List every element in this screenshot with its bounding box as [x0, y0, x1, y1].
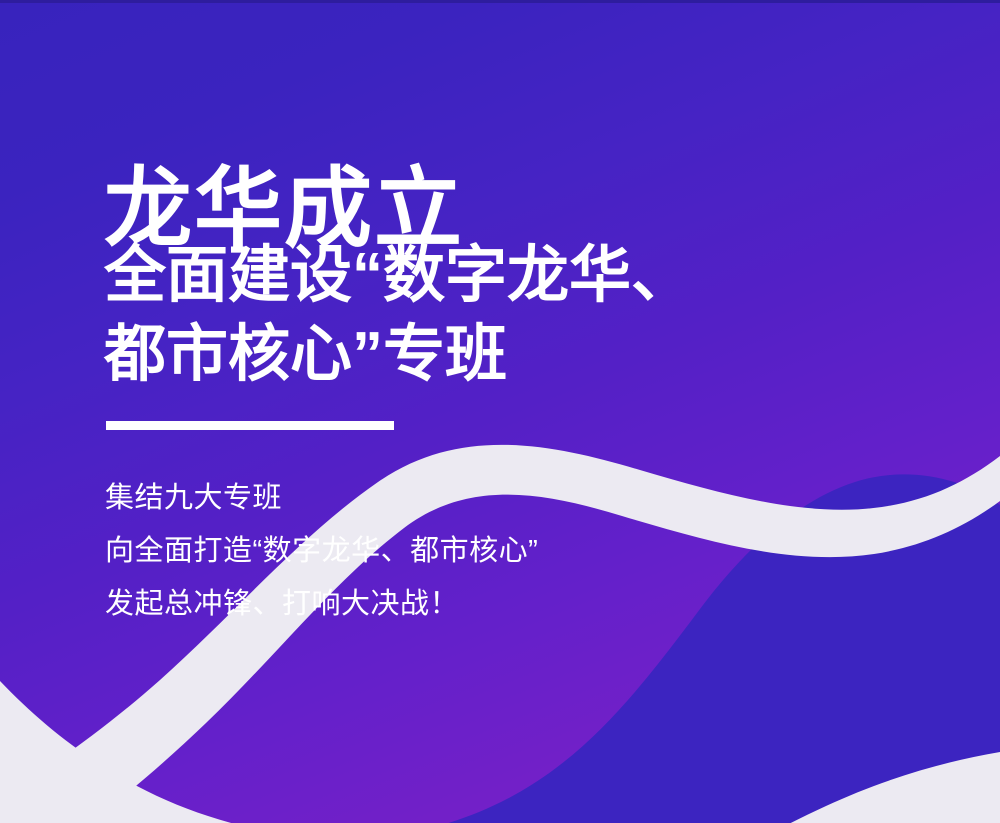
poster-body-copy: 集结九大专班 向全面打造“数字龙华、都市核心” 发起总冲锋、打响大决战！ [105, 472, 538, 630]
poster-canvas: 龙华成立 全面建设“数字龙华、 都市核心”专班 集结九大专班 向全面打造“数字龙… [0, 0, 1000, 823]
subheadline-line-1: 全面建设“数字龙华、 [104, 237, 874, 316]
horizontal-rule [106, 421, 394, 430]
poster-content: 龙华成立 全面建设“数字龙华、 都市核心”专班 集结九大专班 向全面打造“数字龙… [0, 0, 1000, 823]
body-line-2: 向全面打造“数字龙华、都市核心” [105, 525, 538, 578]
poster-subheadline: 全面建设“数字龙华、 都市核心”专班 [104, 237, 874, 394]
body-line-1: 集结九大专班 [105, 472, 538, 525]
subheadline-line-2: 都市核心”专班 [104, 316, 874, 395]
body-line-3: 发起总冲锋、打响大决战！ [105, 578, 538, 631]
